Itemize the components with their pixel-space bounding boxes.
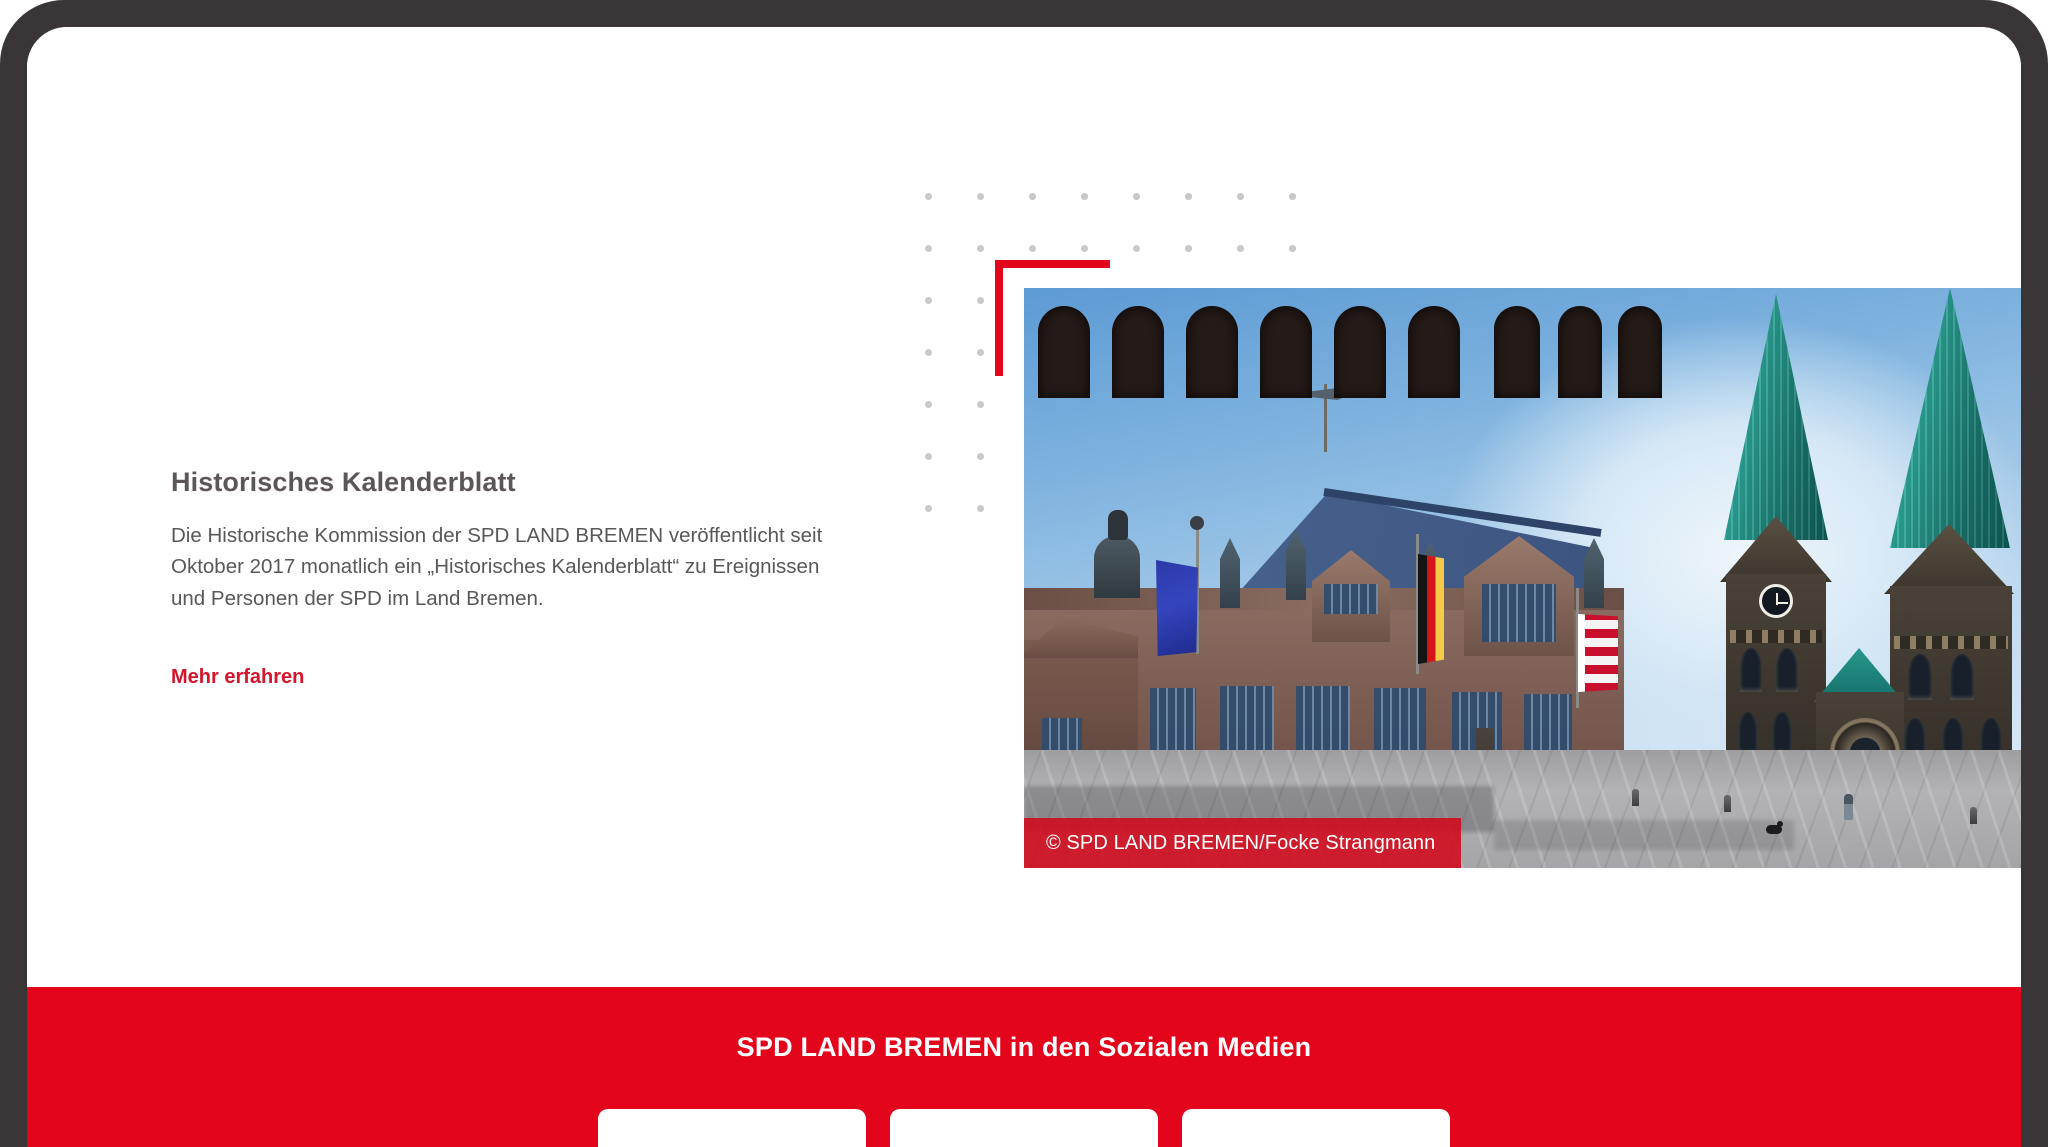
grid-dot xyxy=(977,297,984,304)
grid-dot xyxy=(1289,245,1296,252)
social-card-3[interactable] xyxy=(1182,1109,1450,1147)
photo-illustration xyxy=(1024,288,2021,868)
photo-credit-caption: © SPD LAND BREMEN/Focke Strangmann xyxy=(1024,818,1461,868)
grid-dot xyxy=(1185,193,1192,200)
eu-flag xyxy=(1156,560,1198,656)
rathaus-corner-turret xyxy=(1094,536,1140,598)
grid-dot xyxy=(925,349,932,356)
grid-dot xyxy=(1133,193,1140,200)
social-media-card-row xyxy=(598,1109,1450,1147)
social-media-title: SPD LAND BREMEN in den Sozialen Medien xyxy=(27,1032,2021,1063)
grid-dot xyxy=(925,401,932,408)
teaser-text-column: Historisches Kalenderblatt Die Historisc… xyxy=(171,467,871,689)
bremen-rathaus-photo: © SPD LAND BREMEN/Focke Strangmann xyxy=(1024,288,2021,868)
photo-credit-text: © SPD LAND BREMEN/Focke Strangmann xyxy=(1046,832,1435,855)
rathaus-statue xyxy=(1108,510,1128,540)
grid-dot xyxy=(1289,193,1296,200)
grid-dot xyxy=(1237,193,1244,200)
grid-dot xyxy=(977,349,984,356)
cathedral-clock-icon xyxy=(1759,584,1793,618)
grid-dot xyxy=(925,453,932,460)
grid-dot xyxy=(977,193,984,200)
pedestrian xyxy=(1844,794,1853,820)
grid-dot xyxy=(977,453,984,460)
grid-dot xyxy=(1289,245,1296,252)
social-media-banner: SPD LAND BREMEN in den Sozialen Medien xyxy=(27,987,2021,1147)
grid-dot xyxy=(1029,245,1036,252)
grid-dot xyxy=(1185,193,1192,200)
grid-dot xyxy=(1133,193,1140,200)
grid-dot xyxy=(1081,193,1088,200)
grid-dot xyxy=(1081,245,1088,252)
grid-dot xyxy=(1237,245,1244,252)
german-flag xyxy=(1418,554,1444,664)
grid-dot xyxy=(1289,193,1296,200)
grid-dot xyxy=(1185,245,1192,252)
grid-dot xyxy=(1237,245,1244,252)
grid-dot xyxy=(925,193,932,200)
teaser-title: Historisches Kalenderblatt xyxy=(171,467,871,498)
browser-viewport: © SPD LAND BREMEN/Focke Strangmann Histo… xyxy=(27,27,2021,1147)
grid-dot xyxy=(1185,245,1192,252)
grid-dot xyxy=(925,245,932,252)
grid-dot xyxy=(977,401,984,408)
dog xyxy=(1766,825,1782,834)
social-card-2[interactable] xyxy=(890,1109,1158,1147)
mehr-erfahren-link[interactable]: Mehr erfahren xyxy=(171,666,304,689)
grid-dot xyxy=(1029,193,1036,200)
grid-dot xyxy=(977,505,984,512)
grid-dot xyxy=(1029,193,1036,200)
page-content: © SPD LAND BREMEN/Focke Strangmann Histo… xyxy=(27,27,2021,1147)
grid-dot xyxy=(977,245,984,252)
bremen-flag xyxy=(1578,614,1618,692)
grid-dot xyxy=(1081,193,1088,200)
social-card-1[interactable] xyxy=(598,1109,866,1147)
grid-dot xyxy=(925,297,932,304)
grid-dot xyxy=(925,505,932,512)
teaser-body-text: Die Historische Kommission der SPD LAND … xyxy=(171,520,831,614)
grid-dot xyxy=(1133,245,1140,252)
grid-dot xyxy=(1237,193,1244,200)
device-bezel: © SPD LAND BREMEN/Focke Strangmann Histo… xyxy=(0,0,2048,1147)
